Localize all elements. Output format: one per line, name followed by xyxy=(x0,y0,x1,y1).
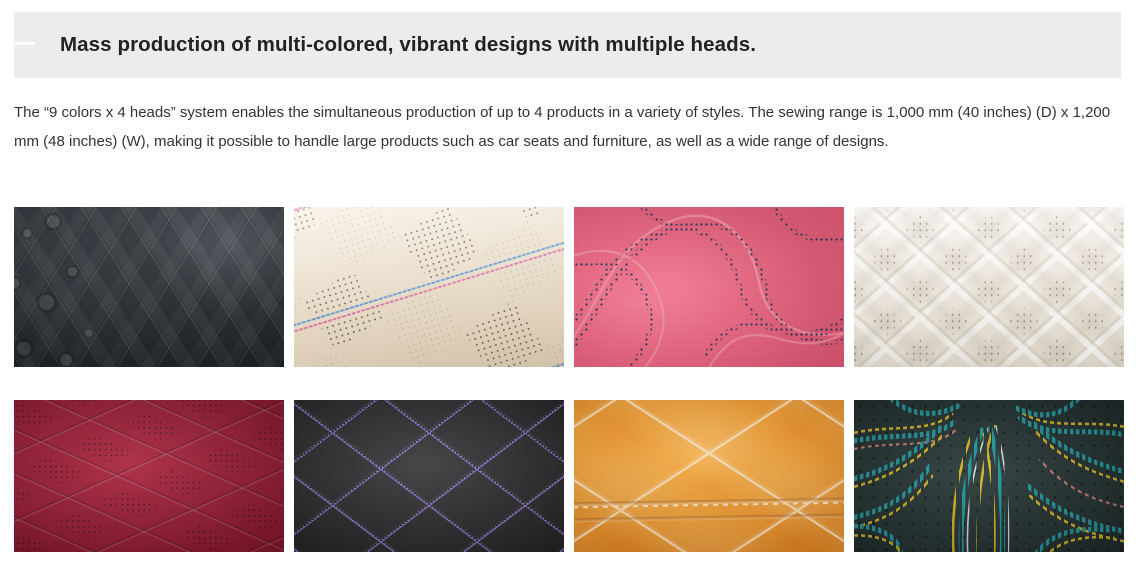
sample-image-offwhite-star-quilt[interactable] xyxy=(854,207,1124,367)
page-title: Mass production of multi-colored, vibran… xyxy=(60,33,756,57)
dash-marker-icon xyxy=(15,42,35,45)
sample-image-crimson-diamond-quilt[interactable] xyxy=(14,400,284,552)
sample-image-black-purple-diamond-stitch[interactable] xyxy=(294,400,564,552)
texture-shading xyxy=(294,207,564,367)
sample-image-orange-diamond-quilt[interactable] xyxy=(574,400,844,552)
feature-description: The “9 colors x 4 heads” system enables … xyxy=(14,98,1121,156)
texture-vignette xyxy=(14,207,284,367)
sample-image-pink-perforated-swirl[interactable] xyxy=(574,207,844,367)
texture-shading xyxy=(854,207,1124,367)
section-header: Mass production of multi-colored, vibran… xyxy=(14,12,1121,78)
sample-image-cream-perforated-plaid[interactable] xyxy=(294,207,564,367)
sample-gallery-row xyxy=(14,207,1124,367)
sample-image-teal-multicolor-embroidery[interactable] xyxy=(854,400,1124,552)
texture-shading xyxy=(574,207,844,367)
sample-image-dark-charcoal-floral-quilt[interactable] xyxy=(14,207,284,367)
texture-shading xyxy=(14,400,284,552)
texture-shading xyxy=(854,400,1124,552)
sample-gallery-row xyxy=(14,400,1124,552)
product-feature-section: Mass production of multi-colored, vibran… xyxy=(0,0,1137,575)
texture-shading xyxy=(294,400,564,552)
texture-shading xyxy=(574,400,844,552)
